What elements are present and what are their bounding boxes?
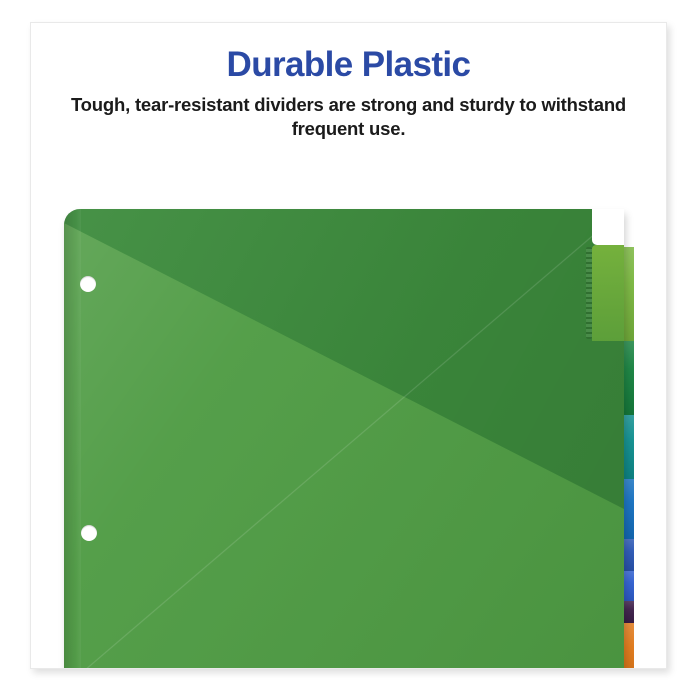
tab-showthrough-window — [592, 245, 624, 341]
punch-hole-top — [80, 276, 96, 292]
page-title: Durable Plastic — [31, 45, 666, 85]
subtitle-text: Tough, tear-resistant dividers are stron… — [64, 93, 634, 141]
ribbed-texture-strip — [586, 247, 592, 339]
top-right-notch — [592, 209, 624, 245]
divider-sheet — [64, 209, 624, 669]
product-card: Durable Plastic Tough, tear-resistant di… — [30, 22, 667, 669]
punch-hole-bottom — [81, 525, 97, 541]
marketing-copy-block: Durable Plastic Tough, tear-resistant di… — [31, 45, 666, 141]
product-image-canvas: Durable Plastic Tough, tear-resistant di… — [0, 0, 700, 700]
product-photo — [31, 163, 666, 668]
binder-spine-edge — [64, 209, 81, 669]
